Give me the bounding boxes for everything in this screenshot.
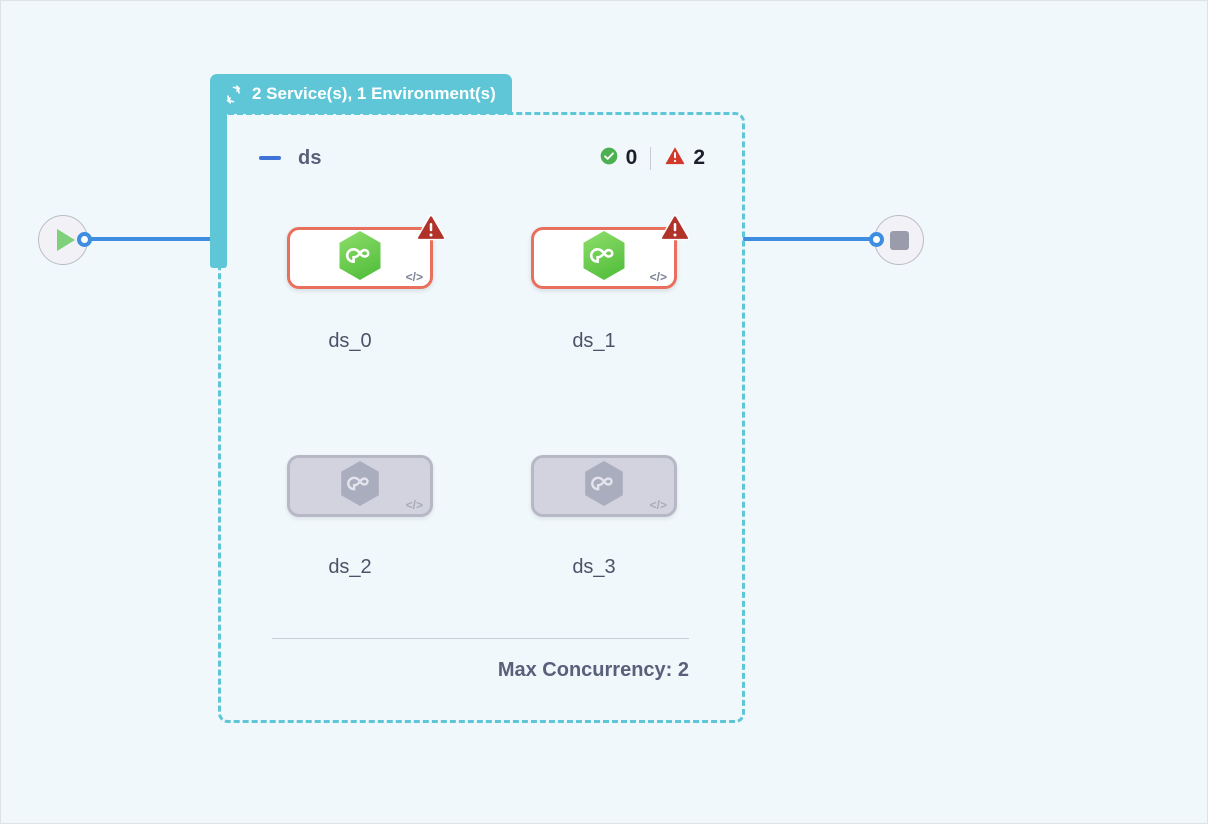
service-node-ds_1[interactable]: </> (531, 227, 677, 289)
service-node-ds_0[interactable]: </> (287, 227, 433, 289)
group-status-counts: 0 2 (599, 145, 705, 171)
code-brackets-icon[interactable]: </> (406, 270, 423, 284)
workflow-canvas[interactable]: 2 Service(s), 1 Environment(s) ds 0 (0, 0, 1208, 824)
nodejs-hexagon-icon (338, 460, 382, 513)
code-brackets-icon[interactable]: </> (406, 498, 423, 512)
warning-triangle-icon (416, 213, 446, 243)
code-brackets-icon[interactable]: </> (650, 270, 667, 284)
group-name: ds (298, 147, 322, 170)
service-group-container[interactable] (218, 112, 745, 723)
sync-loop-icon (224, 85, 243, 104)
group-footer-divider (272, 638, 689, 639)
edge-start-to-group[interactable] (89, 237, 219, 241)
code-brackets-icon[interactable]: </> (650, 498, 667, 512)
check-circle-icon (599, 146, 619, 171)
status-divider (650, 147, 651, 170)
minus-collapse-icon[interactable] (259, 156, 281, 160)
healthy-count[interactable]: 0 (599, 146, 638, 171)
group-tab[interactable]: 2 Service(s), 1 Environment(s) (210, 74, 512, 114)
error-count[interactable]: 2 (664, 145, 705, 171)
nodejs-hexagon-icon (336, 230, 384, 287)
warning-triangle-icon (664, 145, 686, 171)
group-left-rail (210, 106, 227, 268)
group-tab-label: 2 Service(s), 1 Environment(s) (252, 84, 496, 104)
warning-triangle-icon (660, 213, 690, 243)
service-node-ds_3[interactable]: </> (531, 455, 677, 517)
stop-icon (890, 231, 909, 250)
service-node-label: ds_0 (277, 330, 423, 353)
play-icon (57, 229, 75, 251)
error-count-value: 2 (693, 146, 705, 170)
nodejs-hexagon-icon (580, 230, 628, 287)
max-concurrency-label: Max Concurrency: 2 (289, 659, 689, 682)
nodejs-hexagon-icon (582, 460, 626, 513)
end-node-input-port[interactable] (869, 232, 884, 247)
service-node-label: ds_3 (521, 556, 667, 579)
service-node-label: ds_1 (521, 330, 667, 353)
group-header: ds 0 (259, 141, 705, 175)
edge-group-to-end[interactable] (743, 237, 877, 241)
service-node-ds_2[interactable]: </> (287, 455, 433, 517)
healthy-count-value: 0 (626, 146, 638, 170)
start-node-output-port[interactable] (77, 232, 92, 247)
service-node-label: ds_2 (277, 556, 423, 579)
